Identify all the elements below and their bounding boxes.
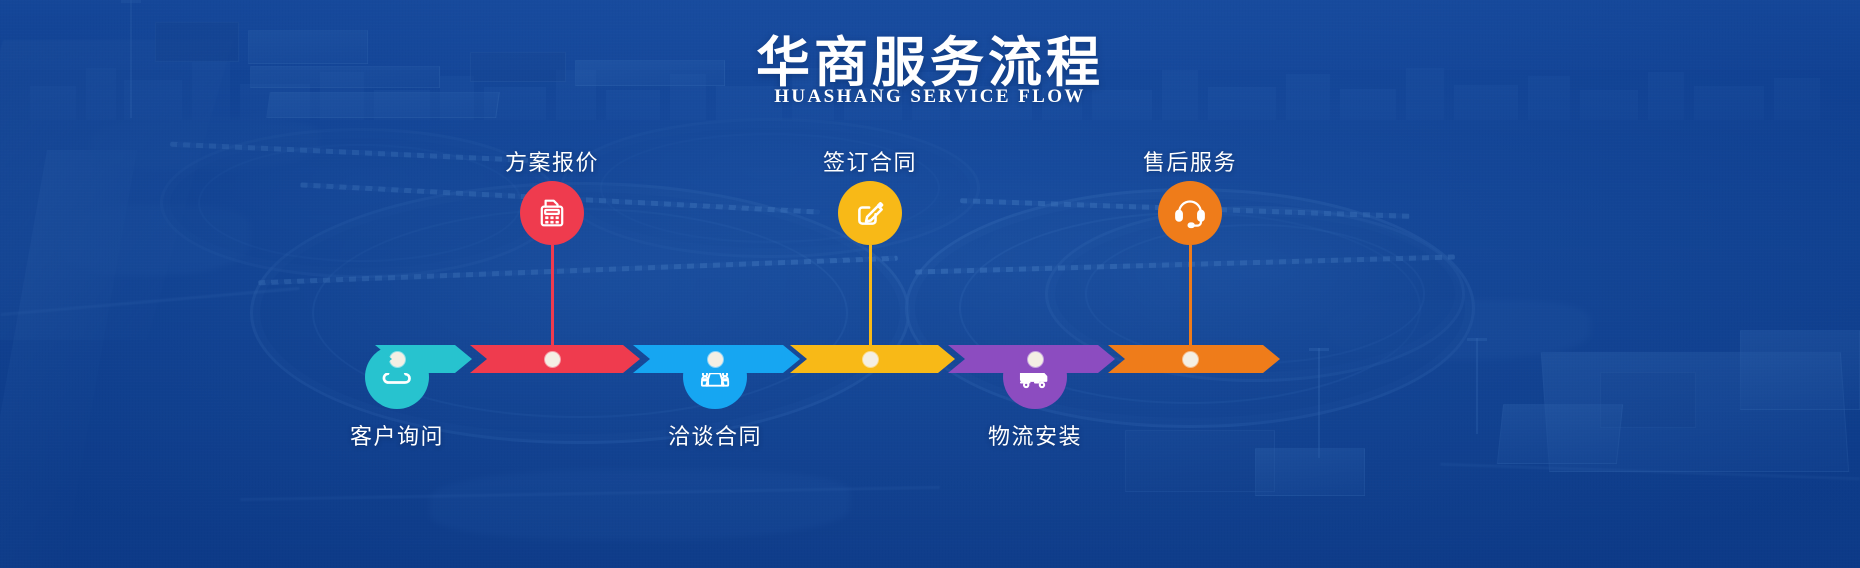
flow-step-label-1: 客户询问 [307,419,487,451]
contract-sign-pen-icon [853,196,887,230]
flow-arrow-segment-5[interactable] [948,345,1115,373]
flow-node-dot-3 [708,352,723,367]
flow-step-label-4: 签订合同 [780,145,960,177]
flow-step-label-6: 售后服务 [1100,145,1280,177]
flow-connector-line-2 [551,245,554,349]
flow-arrow-segment-6[interactable] [1108,345,1280,373]
flow-connector-line-4 [869,245,872,349]
flow-node-dot-4 [863,352,878,367]
flow-step-label-5: 物流安装 [945,419,1125,451]
page-subtitle: HUASHANG SERVICE FLOW [0,86,1860,108]
flow-step-badge-6[interactable] [1158,181,1222,245]
flow-node-dot-2 [545,352,560,367]
flow-node-dot-5 [1028,352,1043,367]
flow-step-badge-2[interactable] [520,181,584,245]
calculator-quote-icon [535,196,569,230]
headset-support-icon [1173,196,1207,230]
flow-connector-line-6 [1189,245,1192,349]
flow-arrow-segment-2[interactable] [470,345,640,373]
flow-node-dot-6 [1183,352,1198,367]
flow-arrow-segment-3[interactable] [633,345,800,373]
flow-arrow-ribbon [0,345,1860,373]
service-flow-infographic: 华商服务流程 HUASHANG SERVICE FLOW 客户询问方案报价洽谈合… [0,0,1860,568]
flow-step-label-3: 洽谈合同 [625,419,805,451]
flow-step-badge-4[interactable] [838,181,902,245]
flow-step-label-2: 方案报价 [462,145,642,177]
flow-arrow-segment-4[interactable] [790,345,955,373]
